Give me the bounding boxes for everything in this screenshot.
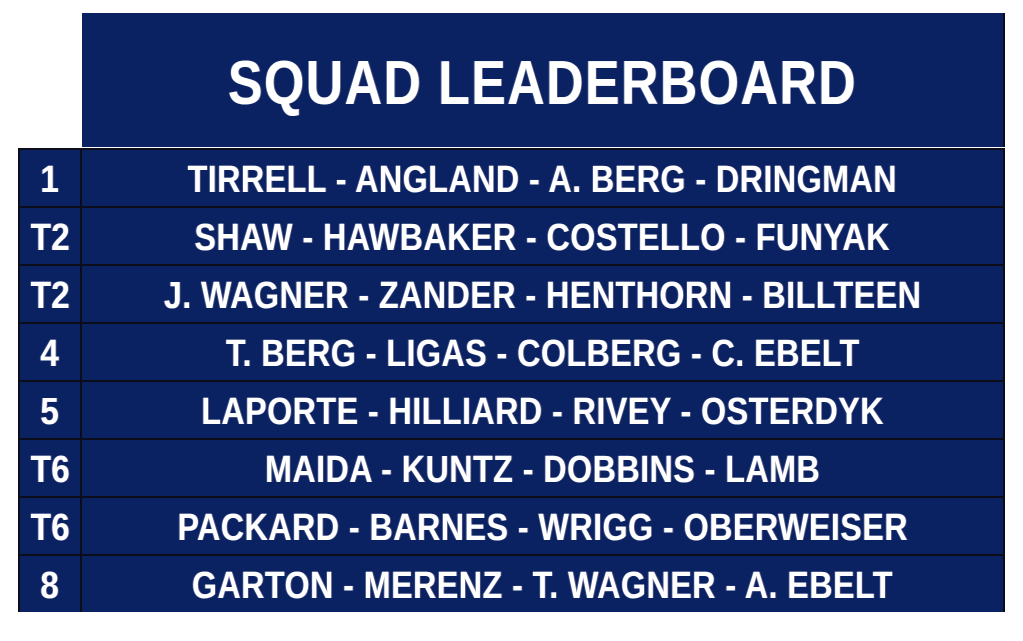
rank-cell: 5 bbox=[18, 382, 82, 438]
leaderboard-table: 1 TIRRELL - ANGLAND - A. BERG - DRINGMAN… bbox=[18, 148, 1005, 612]
rank-cell: T2 bbox=[18, 208, 82, 264]
rank-value: 8 bbox=[41, 564, 60, 605]
rank-value: T2 bbox=[30, 216, 69, 257]
rank-cell: T6 bbox=[18, 440, 82, 496]
team-cell: T. BERG - LIGAS - COLBERG - C. EBELT bbox=[82, 324, 1005, 380]
team-cell: TIRRELL - ANGLAND - A. BERG - DRINGMAN bbox=[82, 150, 1005, 206]
team-value: T. BERG - LIGAS - COLBERG - C. EBELT bbox=[226, 332, 860, 373]
rank-value: T6 bbox=[30, 448, 69, 489]
team-cell: SHAW - HAWBAKER - COSTELLO - FUNYAK bbox=[82, 208, 1005, 264]
rank-value: T2 bbox=[30, 274, 69, 315]
rank-value: 1 bbox=[41, 158, 60, 199]
team-value: LAPORTE - HILLIARD - RIVEY - OSTERDYK bbox=[201, 390, 884, 431]
rank-value: 4 bbox=[41, 332, 60, 373]
team-cell: PACKARD - BARNES - WRIGG - OBERWEISER bbox=[82, 498, 1005, 554]
team-cell: GARTON - MERENZ - T. WAGNER - A. EBELT bbox=[82, 556, 1005, 612]
team-cell: J. WAGNER - ZANDER - HENTHORN - BILLTEEN bbox=[82, 266, 1005, 322]
rank-cell: 4 bbox=[18, 324, 82, 380]
rank-cell: 8 bbox=[18, 556, 82, 612]
squad-leaderboard-graphic: SQUAD LEADERBOARD 1 TIRRELL - ANGLAND - … bbox=[0, 0, 1023, 641]
table-row: T2 J. WAGNER - ZANDER - HENTHORN - BILLT… bbox=[18, 264, 1005, 322]
table-row: 1 TIRRELL - ANGLAND - A. BERG - DRINGMAN bbox=[18, 148, 1005, 206]
rank-cell: T2 bbox=[18, 266, 82, 322]
team-cell: MAIDA - KUNTZ - DOBBINS - LAMB bbox=[82, 440, 1005, 496]
leaderboard-header-banner: SQUAD LEADERBOARD bbox=[82, 13, 1005, 147]
table-row: 8 GARTON - MERENZ - T. WAGNER - A. EBELT bbox=[18, 554, 1005, 612]
rank-value: T6 bbox=[30, 506, 69, 547]
page-title: SQUAD LEADERBOARD bbox=[228, 45, 857, 115]
table-row: T2 SHAW - HAWBAKER - COSTELLO - FUNYAK bbox=[18, 206, 1005, 264]
team-value: PACKARD - BARNES - WRIGG - OBERWEISER bbox=[177, 506, 908, 547]
team-value: GARTON - MERENZ - T. WAGNER - A. EBELT bbox=[192, 564, 893, 605]
team-value: MAIDA - KUNTZ - DOBBINS - LAMB bbox=[265, 448, 820, 489]
rank-cell: 1 bbox=[18, 150, 82, 206]
table-row: T6 PACKARD - BARNES - WRIGG - OBERWEISER bbox=[18, 496, 1005, 554]
rank-cell: T6 bbox=[18, 498, 82, 554]
team-cell: LAPORTE - HILLIARD - RIVEY - OSTERDYK bbox=[82, 382, 1005, 438]
team-value: J. WAGNER - ZANDER - HENTHORN - BILLTEEN bbox=[164, 274, 921, 315]
rank-value: 5 bbox=[41, 390, 60, 431]
team-value: TIRRELL - ANGLAND - A. BERG - DRINGMAN bbox=[188, 158, 897, 199]
table-row: 4 T. BERG - LIGAS - COLBERG - C. EBELT bbox=[18, 322, 1005, 380]
team-value: SHAW - HAWBAKER - COSTELLO - FUNYAK bbox=[195, 216, 891, 257]
table-row: 5 LAPORTE - HILLIARD - RIVEY - OSTERDYK bbox=[18, 380, 1005, 438]
table-row: T6 MAIDA - KUNTZ - DOBBINS - LAMB bbox=[18, 438, 1005, 496]
